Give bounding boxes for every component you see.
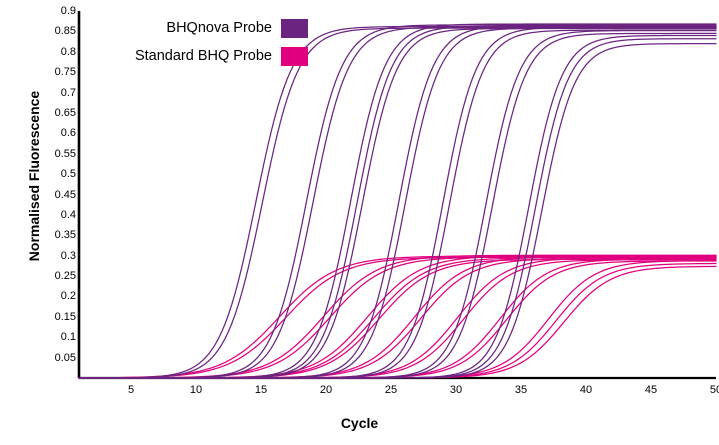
x-tick-label: 40 [580,384,592,396]
amplification-curve [79,31,716,378]
amplification-curve [79,256,716,378]
amplification-curve [79,25,716,378]
x-tick-label: 50 [710,384,719,396]
amplification-curve [79,266,716,378]
amplification-curve [79,259,716,378]
legend-swatch-bhqnova [281,19,308,38]
amplification-curve [79,261,716,378]
amplification-curve [79,27,716,378]
amplification-curve [79,24,716,378]
amplification-curve [79,27,716,378]
amplification-curve [79,259,716,378]
amplification-curve [79,28,716,378]
plot-area [0,0,719,445]
legend: BHQnova Probe Standard BHQ Probe [112,14,308,70]
amplification-curve [79,264,716,378]
curve-group-standard-bhq [79,255,716,378]
x-tick-label: 10 [190,384,202,396]
amplification-curve [79,256,716,378]
x-tick-label: 15 [255,384,267,396]
amplification-curve [79,26,716,378]
legend-item-bhqnova: BHQnova Probe [112,14,308,42]
amplification-curve [79,255,716,378]
curve-group-bhqnova [79,24,716,378]
x-tick-label: 35 [515,384,527,396]
amplification-curve [79,30,716,378]
amplification-curve [79,261,716,378]
amplification-curve [79,260,716,378]
x-tick-label: 25 [385,384,397,396]
qpcr-amplification-chart: Normalised Fluorescence 0.050.10.150.20.… [0,0,719,445]
amplification-curve [79,29,716,378]
legend-swatch-standard-bhq [281,47,308,66]
legend-label-bhqnova: BHQnova Probe [166,20,272,36]
legend-item-standard-bhq: Standard BHQ Probe [112,42,308,70]
x-tick-label: 20 [320,384,332,396]
legend-label-standard-bhq: Standard BHQ Probe [135,48,272,64]
x-tick-label: 45 [645,384,657,396]
amplification-curve [79,26,716,378]
amplification-curve [79,27,716,378]
x-tick-label: 30 [450,384,462,396]
amplification-curve [79,28,716,378]
x-tick-label: 5 [128,384,134,396]
x-axis-title: Cycle [0,415,719,431]
amplification-curve [79,259,716,378]
